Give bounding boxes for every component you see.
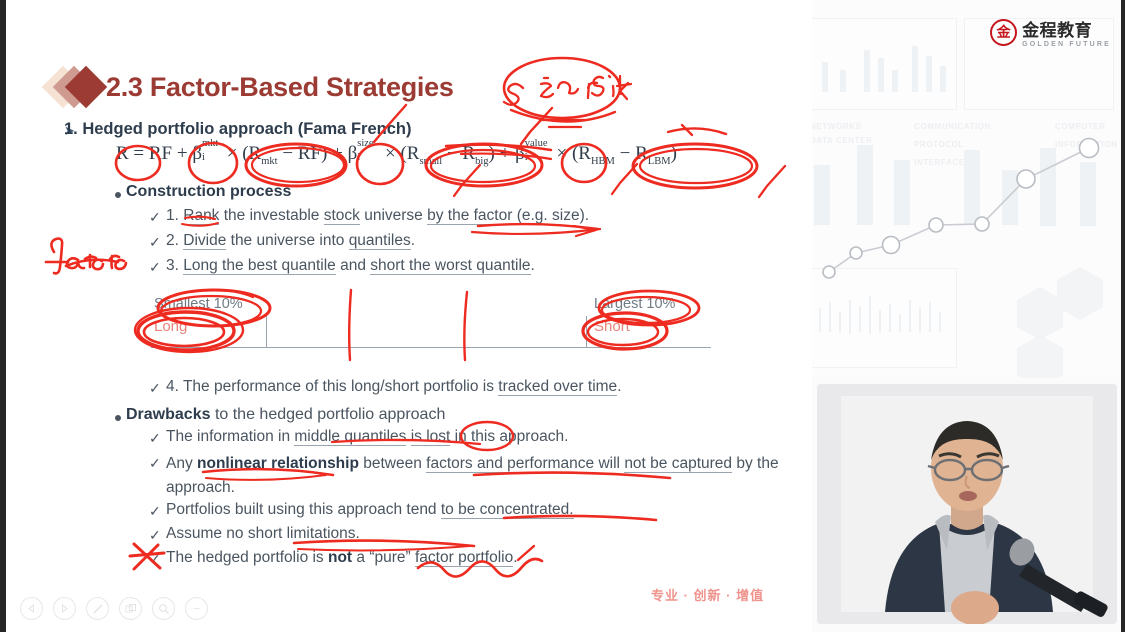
check-icon-d2: ✓ xyxy=(149,455,161,472)
d2-p5: not be captured xyxy=(624,455,732,473)
webcam-frame xyxy=(817,384,1117,624)
d4-p0: Assume no short limitations. xyxy=(166,525,360,542)
check-icon-3: ✓ xyxy=(149,259,161,276)
logo-text-cn: 金程教育 xyxy=(1022,16,1111,41)
d2-p1: nonlinear relationship xyxy=(197,455,359,472)
check-icon-4: ✓ xyxy=(149,380,161,397)
minimize-button[interactable] xyxy=(185,597,208,620)
step-2-part-1: the universe into xyxy=(226,232,348,249)
construction-step-2: 2. Divide the universe into quantiles. xyxy=(166,232,415,250)
window-edge-right xyxy=(1121,0,1125,632)
construction-step-1: 1. Rank the investable stock universe by… xyxy=(166,207,589,225)
step-number-1: 1. xyxy=(166,207,179,224)
d2-p0: Any xyxy=(166,455,197,472)
d5-p0: The hedged portfolio is xyxy=(166,549,328,566)
d5-p3: factor portfolio xyxy=(415,549,513,567)
d3-p0: Portfolios built using this approach ten… xyxy=(166,501,441,518)
d5-p2: a “pure” xyxy=(352,549,415,566)
quantile-diagram: Smallest 10% Long Largest 10% Short xyxy=(151,296,711,348)
quantile-right-action: Short xyxy=(594,318,630,335)
d1-p0: The information in xyxy=(166,428,294,445)
d1-p3: is lost xyxy=(411,428,451,446)
formula-term-value: × (RHBM − RLBM) xyxy=(552,143,677,164)
line-chart-point-2 xyxy=(883,237,900,254)
d5-p4: . xyxy=(513,549,517,566)
drawback-item-4: Assume no short limitations. xyxy=(166,525,360,543)
line-chart-point-5 xyxy=(1017,170,1035,188)
play-button[interactable] xyxy=(53,597,76,620)
d1-p1: middle quantiles xyxy=(294,428,406,446)
d2-p2: between xyxy=(359,455,426,472)
step-4-part-2: . xyxy=(617,378,621,395)
slide-canvas[interactable]: 2.3 Factor-Based Strategies ➤ 1. Hedged … xyxy=(6,0,812,632)
line-chart-path xyxy=(829,148,1089,272)
drawbacks-heading-bold: Drawbacks xyxy=(126,406,211,423)
logo-seal-icon: 金 xyxy=(990,19,1017,46)
drawback-item-5: The hedged portfolio is not a “pure” fac… xyxy=(166,549,518,567)
step-1-part-2: stock xyxy=(324,207,360,225)
check-icon-d3: ✓ xyxy=(149,503,161,520)
drawbacks-heading: Drawbacks to the hedged portfolio approa… xyxy=(126,406,445,424)
annotation-check-5 xyxy=(759,166,785,197)
annotation-size-risk-text xyxy=(504,76,631,105)
background-infographic: NETWORKS DATA CENTER COMMUNICATION PROTO… xyxy=(812,0,1121,378)
slide-title-row: 2.3 Factor-Based Strategies xyxy=(48,64,454,110)
zoom-button[interactable] xyxy=(152,597,175,620)
construction-step-4: 4. The performance of this long/short po… xyxy=(166,378,622,396)
step-3-part-3: . xyxy=(531,257,535,274)
layers-icon xyxy=(125,603,137,615)
logo-text-en: GOLDEN FUTURE xyxy=(1022,41,1111,48)
step-2-part-0: Divide xyxy=(183,232,226,250)
line-chart-point-0 xyxy=(823,266,835,278)
check-icon-d5: ✓ xyxy=(149,551,161,568)
line-chart xyxy=(812,0,1121,378)
screen-root: 2.3 Factor-Based Strategies ➤ 1. Hedged … xyxy=(0,0,1125,632)
d2-p4: will xyxy=(594,455,624,472)
section-heading-1: 1. Hedged portfolio approach (Fama Frenc… xyxy=(64,120,411,139)
step-4-part-0: The performance of this long/short portf… xyxy=(183,378,498,395)
layers-button[interactable] xyxy=(119,597,142,620)
d2-p3: factors and performance xyxy=(426,455,594,473)
dot-bullet-icon-2 xyxy=(115,415,121,421)
quantile-tick-2 xyxy=(586,316,587,348)
step-1-part-5: (e.g. size). xyxy=(512,207,589,224)
pen-tool-button[interactable] xyxy=(86,597,109,620)
step-1-part-4: by the factor xyxy=(427,207,512,225)
beta-mkt: βmkti xyxy=(192,143,202,165)
pen-icon xyxy=(92,603,104,615)
fama-french-formula: R = RF + βmkti × (Rmkt − RF) + βsizei × … xyxy=(116,143,677,167)
d1-p4: in this approach. xyxy=(450,428,568,445)
previous-slide-button[interactable] xyxy=(20,597,43,620)
drawbacks-heading-rest: to the hedged portfolio approach xyxy=(211,406,446,423)
step-1-part-1: the investable xyxy=(219,207,323,224)
annotation-check-3 xyxy=(454,165,480,196)
step-4-part-1: tracked over time xyxy=(498,378,617,396)
step-3-part-2: short the worst quantile xyxy=(370,257,530,275)
step-1-part-3: universe xyxy=(360,207,427,224)
diamond-bullet-icon xyxy=(48,64,106,110)
triangle-right-icon xyxy=(60,604,69,613)
d3-p1: to be concentrated. xyxy=(441,501,574,519)
triangle-left-icon xyxy=(27,604,36,613)
drawback-item-1: The information in middle quantiles is l… xyxy=(166,428,568,446)
quantile-right-label: Largest 10% xyxy=(594,296,675,312)
page-title: 2.3 Factor-Based Strategies xyxy=(106,72,454,103)
brand-logo: 金 金程教育 GOLDEN FUTURE xyxy=(990,16,1111,48)
step-number-4: 4. xyxy=(166,378,179,395)
check-icon-2: ✓ xyxy=(149,234,161,251)
drawback-item-3: Portfolios built using this approach ten… xyxy=(166,501,574,519)
dot-bullet-icon xyxy=(115,192,121,198)
drawback-item-2: Any nonlinear relationship between facto… xyxy=(166,452,786,500)
check-icon-1: ✓ xyxy=(149,209,161,226)
check-icon-d4: ✓ xyxy=(149,527,161,544)
annotation-size-risk-circle xyxy=(504,58,620,127)
step-1-part-0: Rank xyxy=(183,207,219,225)
line-chart-point-3 xyxy=(929,218,943,232)
quantile-left-action: Long xyxy=(154,318,187,335)
quantile-baseline xyxy=(151,347,711,348)
quantile-left-label: Smallest 10% xyxy=(154,296,243,312)
magnifier-icon xyxy=(158,603,170,615)
annotation-factor-text xyxy=(46,239,126,274)
footer-slogan: 专业 · 创新 · 增值 xyxy=(651,585,764,604)
step-3-part-1: and xyxy=(336,257,370,274)
beta-value: βvaluei xyxy=(515,143,525,165)
formula-lead: R = RF + xyxy=(116,143,192,164)
step-2-part-3: . xyxy=(411,232,415,249)
formula-term-size: × (Rsmall − Rbig) + xyxy=(380,143,515,164)
webcam-video[interactable] xyxy=(817,384,1117,624)
quantile-tick-1 xyxy=(266,316,267,348)
formula-term-mkt: × (Rmkt − RF) + xyxy=(222,143,348,164)
step-number-3: 3. xyxy=(166,257,179,274)
step-2-part-2: quantiles xyxy=(349,232,411,250)
playback-toolbar[interactable] xyxy=(20,597,208,620)
check-icon-d1: ✓ xyxy=(149,430,161,447)
minus-icon xyxy=(191,603,202,614)
line-chart-point-4 xyxy=(975,217,989,231)
right-panel: NETWORKS DATA CENTER COMMUNICATION PROTO… xyxy=(812,0,1121,632)
construction-step-3: 3. Long the best quantile and short the … xyxy=(166,257,535,275)
line-chart-point-1 xyxy=(850,247,862,259)
beta-size: βsizei xyxy=(348,143,358,165)
annotation-check-4 xyxy=(612,164,637,194)
d5-p1: not xyxy=(328,549,352,566)
line-chart-point-6 xyxy=(1080,139,1099,158)
step-3-part-0: Long the best quantile xyxy=(183,257,336,275)
step-number-2: 2. xyxy=(166,232,179,249)
construction-heading: Construction process xyxy=(126,183,291,201)
